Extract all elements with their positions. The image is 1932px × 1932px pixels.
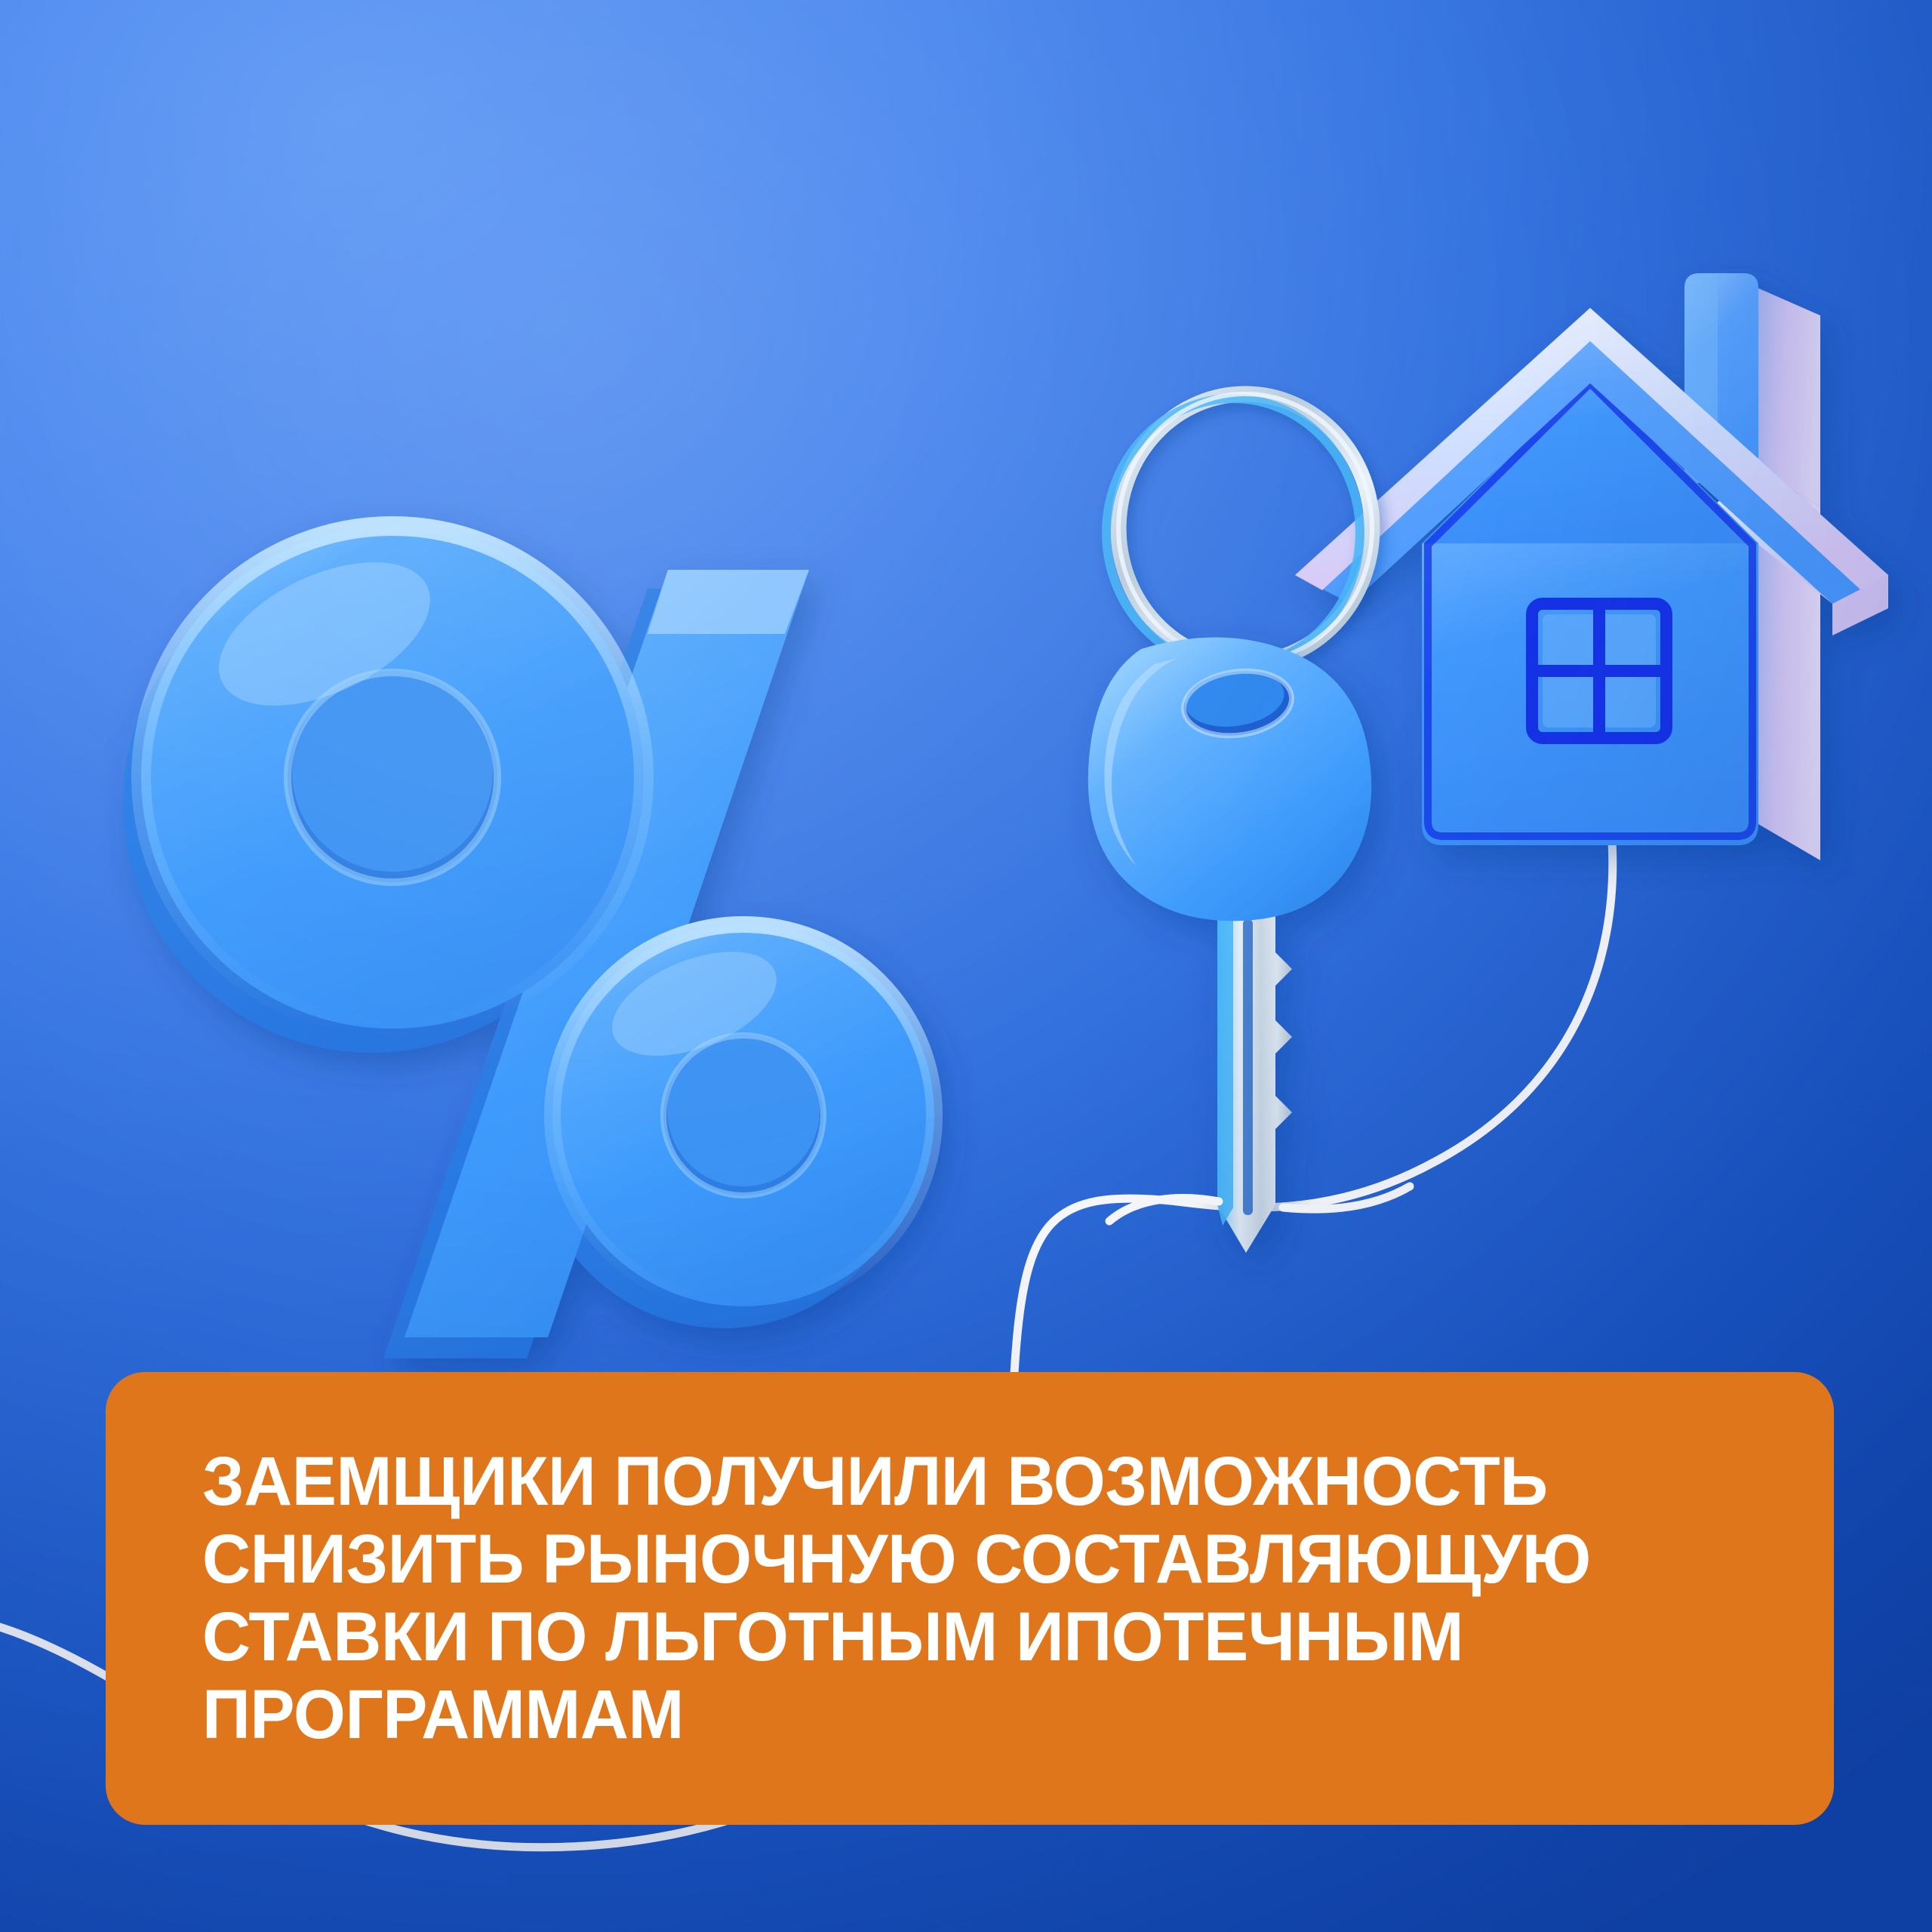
headline-line-3: СТАВКИ ПО ЛЬГОТНЫМ ИПОТЕЧНЫМ xyxy=(202,1598,1777,1676)
percent-top-ring xyxy=(141,526,644,1029)
headline-banner: ЗАЕМЩИКИ ПОЛУЧИЛИ ВОЗМОЖНОСТЬ СНИЗИТЬ РЫ… xyxy=(106,1372,1834,1825)
headline-line-2: СНИЗИТЬ РЫНОЧНУЮ СОСТАВЛЯЮЩУЮ xyxy=(202,1521,1777,1598)
house-window xyxy=(1532,604,1666,738)
house-icon xyxy=(1295,273,1888,860)
percent-symbol xyxy=(123,526,934,1358)
headline-line-1: ЗАЕМЩИКИ ПОЛУЧИЛИ ВОЗМОЖНОСТЬ xyxy=(202,1443,1777,1521)
house-key xyxy=(1088,637,1371,1253)
keyring xyxy=(1106,394,1372,667)
percent-bottom-ring xyxy=(552,924,934,1306)
headline-line-4: ПРОГРАММАМ xyxy=(202,1676,1777,1754)
poster-canvas: ЗАЕМЩИКИ ПОЛУЧИЛИ ВОЗМОЖНОСТЬ СНИЗИТЬ РЫ… xyxy=(0,0,1932,1932)
